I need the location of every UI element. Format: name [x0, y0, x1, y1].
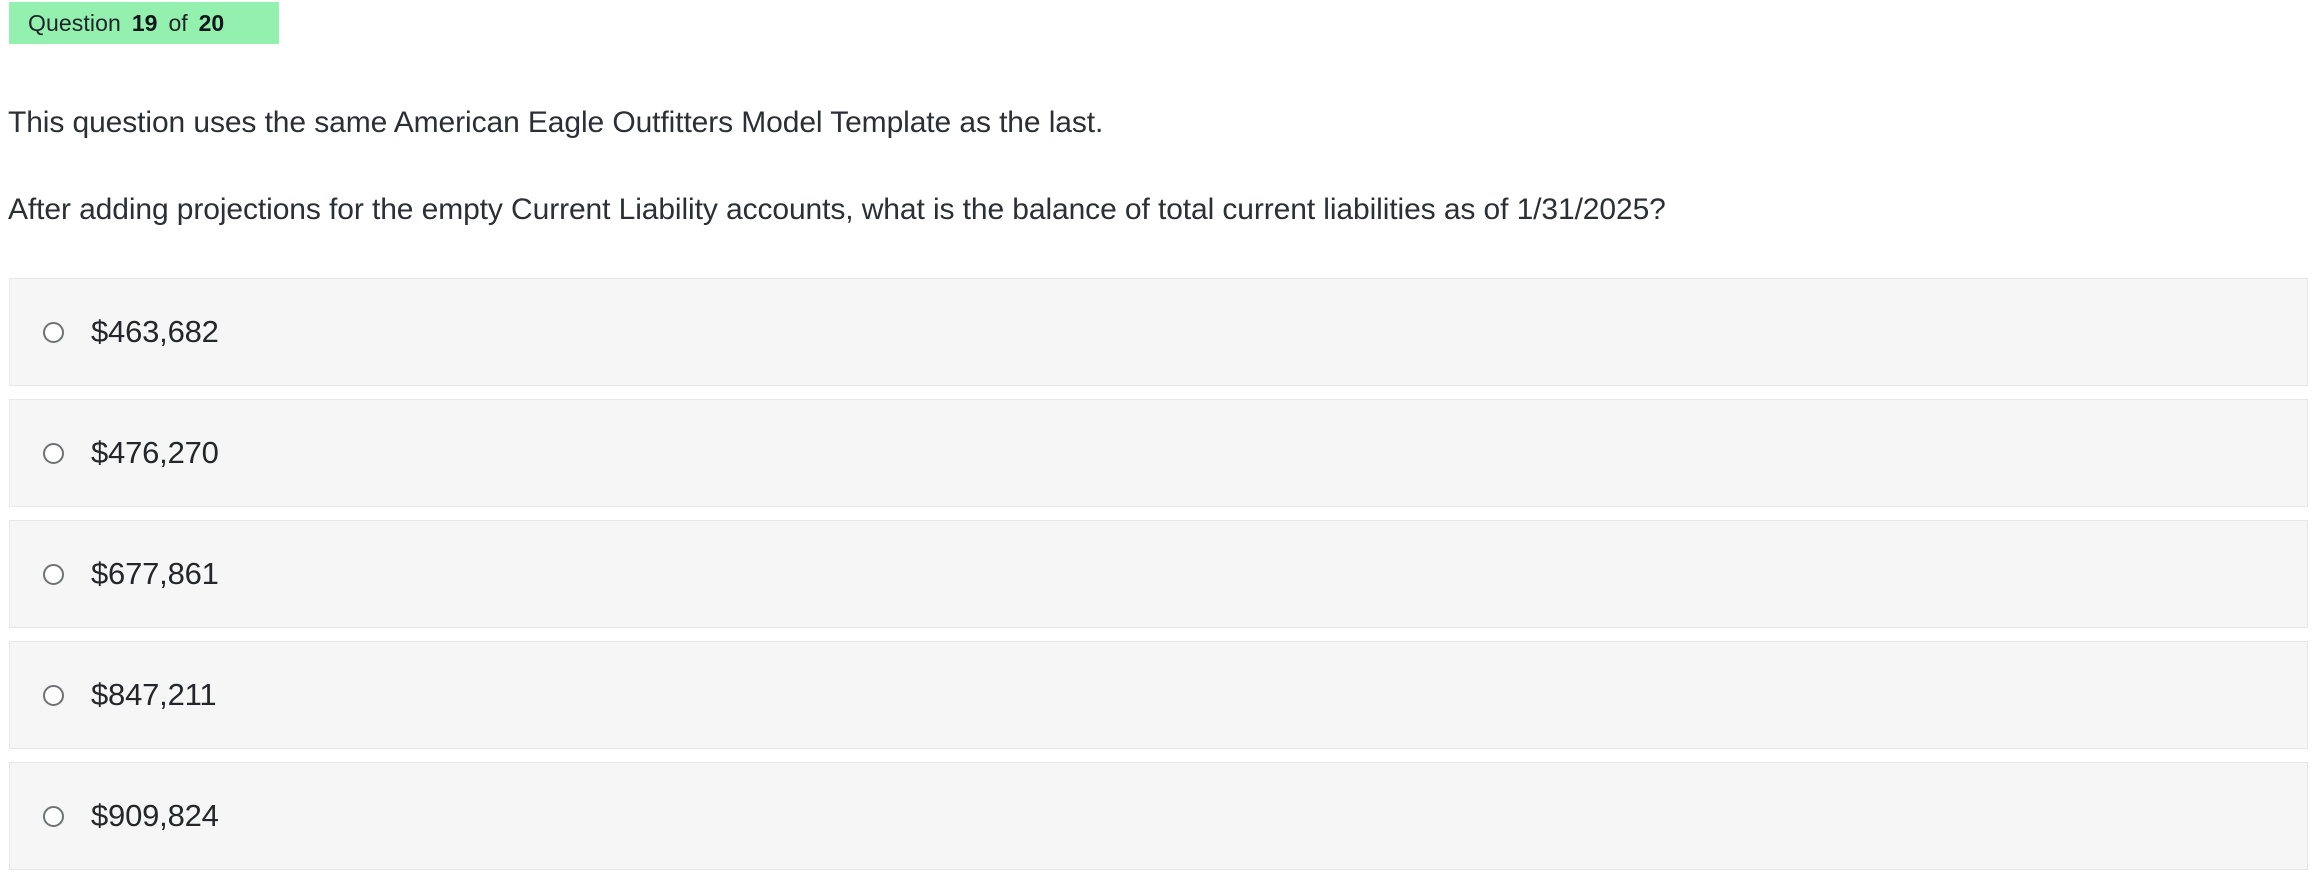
question-counter-current: 19: [132, 10, 158, 37]
answer-option-e[interactable]: $909,824: [9, 762, 2308, 870]
answer-options-list: $463,682 $476,270 $677,861 $847,211 $909…: [9, 278, 2308, 870]
answer-option-label: $677,861: [91, 556, 219, 592]
question-context-text: This question uses the same American Eag…: [8, 105, 1103, 141]
answer-option-label: $847,211: [91, 677, 216, 713]
answer-option-c[interactable]: $677,861: [9, 520, 2308, 628]
question-counter-of: of: [168, 10, 187, 37]
radio-unchecked-icon[interactable]: [43, 564, 64, 585]
answer-option-label: $463,682: [91, 314, 219, 350]
question-counter-label: Question: [28, 10, 121, 37]
quiz-question-page: Question 19 of 20 This question uses the…: [0, 0, 2320, 890]
answer-option-d[interactable]: $847,211: [9, 641, 2308, 749]
radio-unchecked-icon[interactable]: [43, 443, 64, 464]
answer-option-label: $476,270: [91, 435, 219, 471]
question-prompt-text: After adding projections for the empty C…: [8, 192, 1666, 228]
question-counter-total: 20: [199, 10, 225, 37]
radio-unchecked-icon[interactable]: [43, 322, 64, 343]
answer-option-a[interactable]: $463,682: [9, 278, 2308, 386]
answer-option-label: $909,824: [91, 798, 219, 834]
radio-unchecked-icon[interactable]: [43, 806, 64, 827]
radio-unchecked-icon[interactable]: [43, 685, 64, 706]
question-counter-badge: Question 19 of 20: [9, 2, 279, 44]
answer-option-b[interactable]: $476,270: [9, 399, 2308, 507]
